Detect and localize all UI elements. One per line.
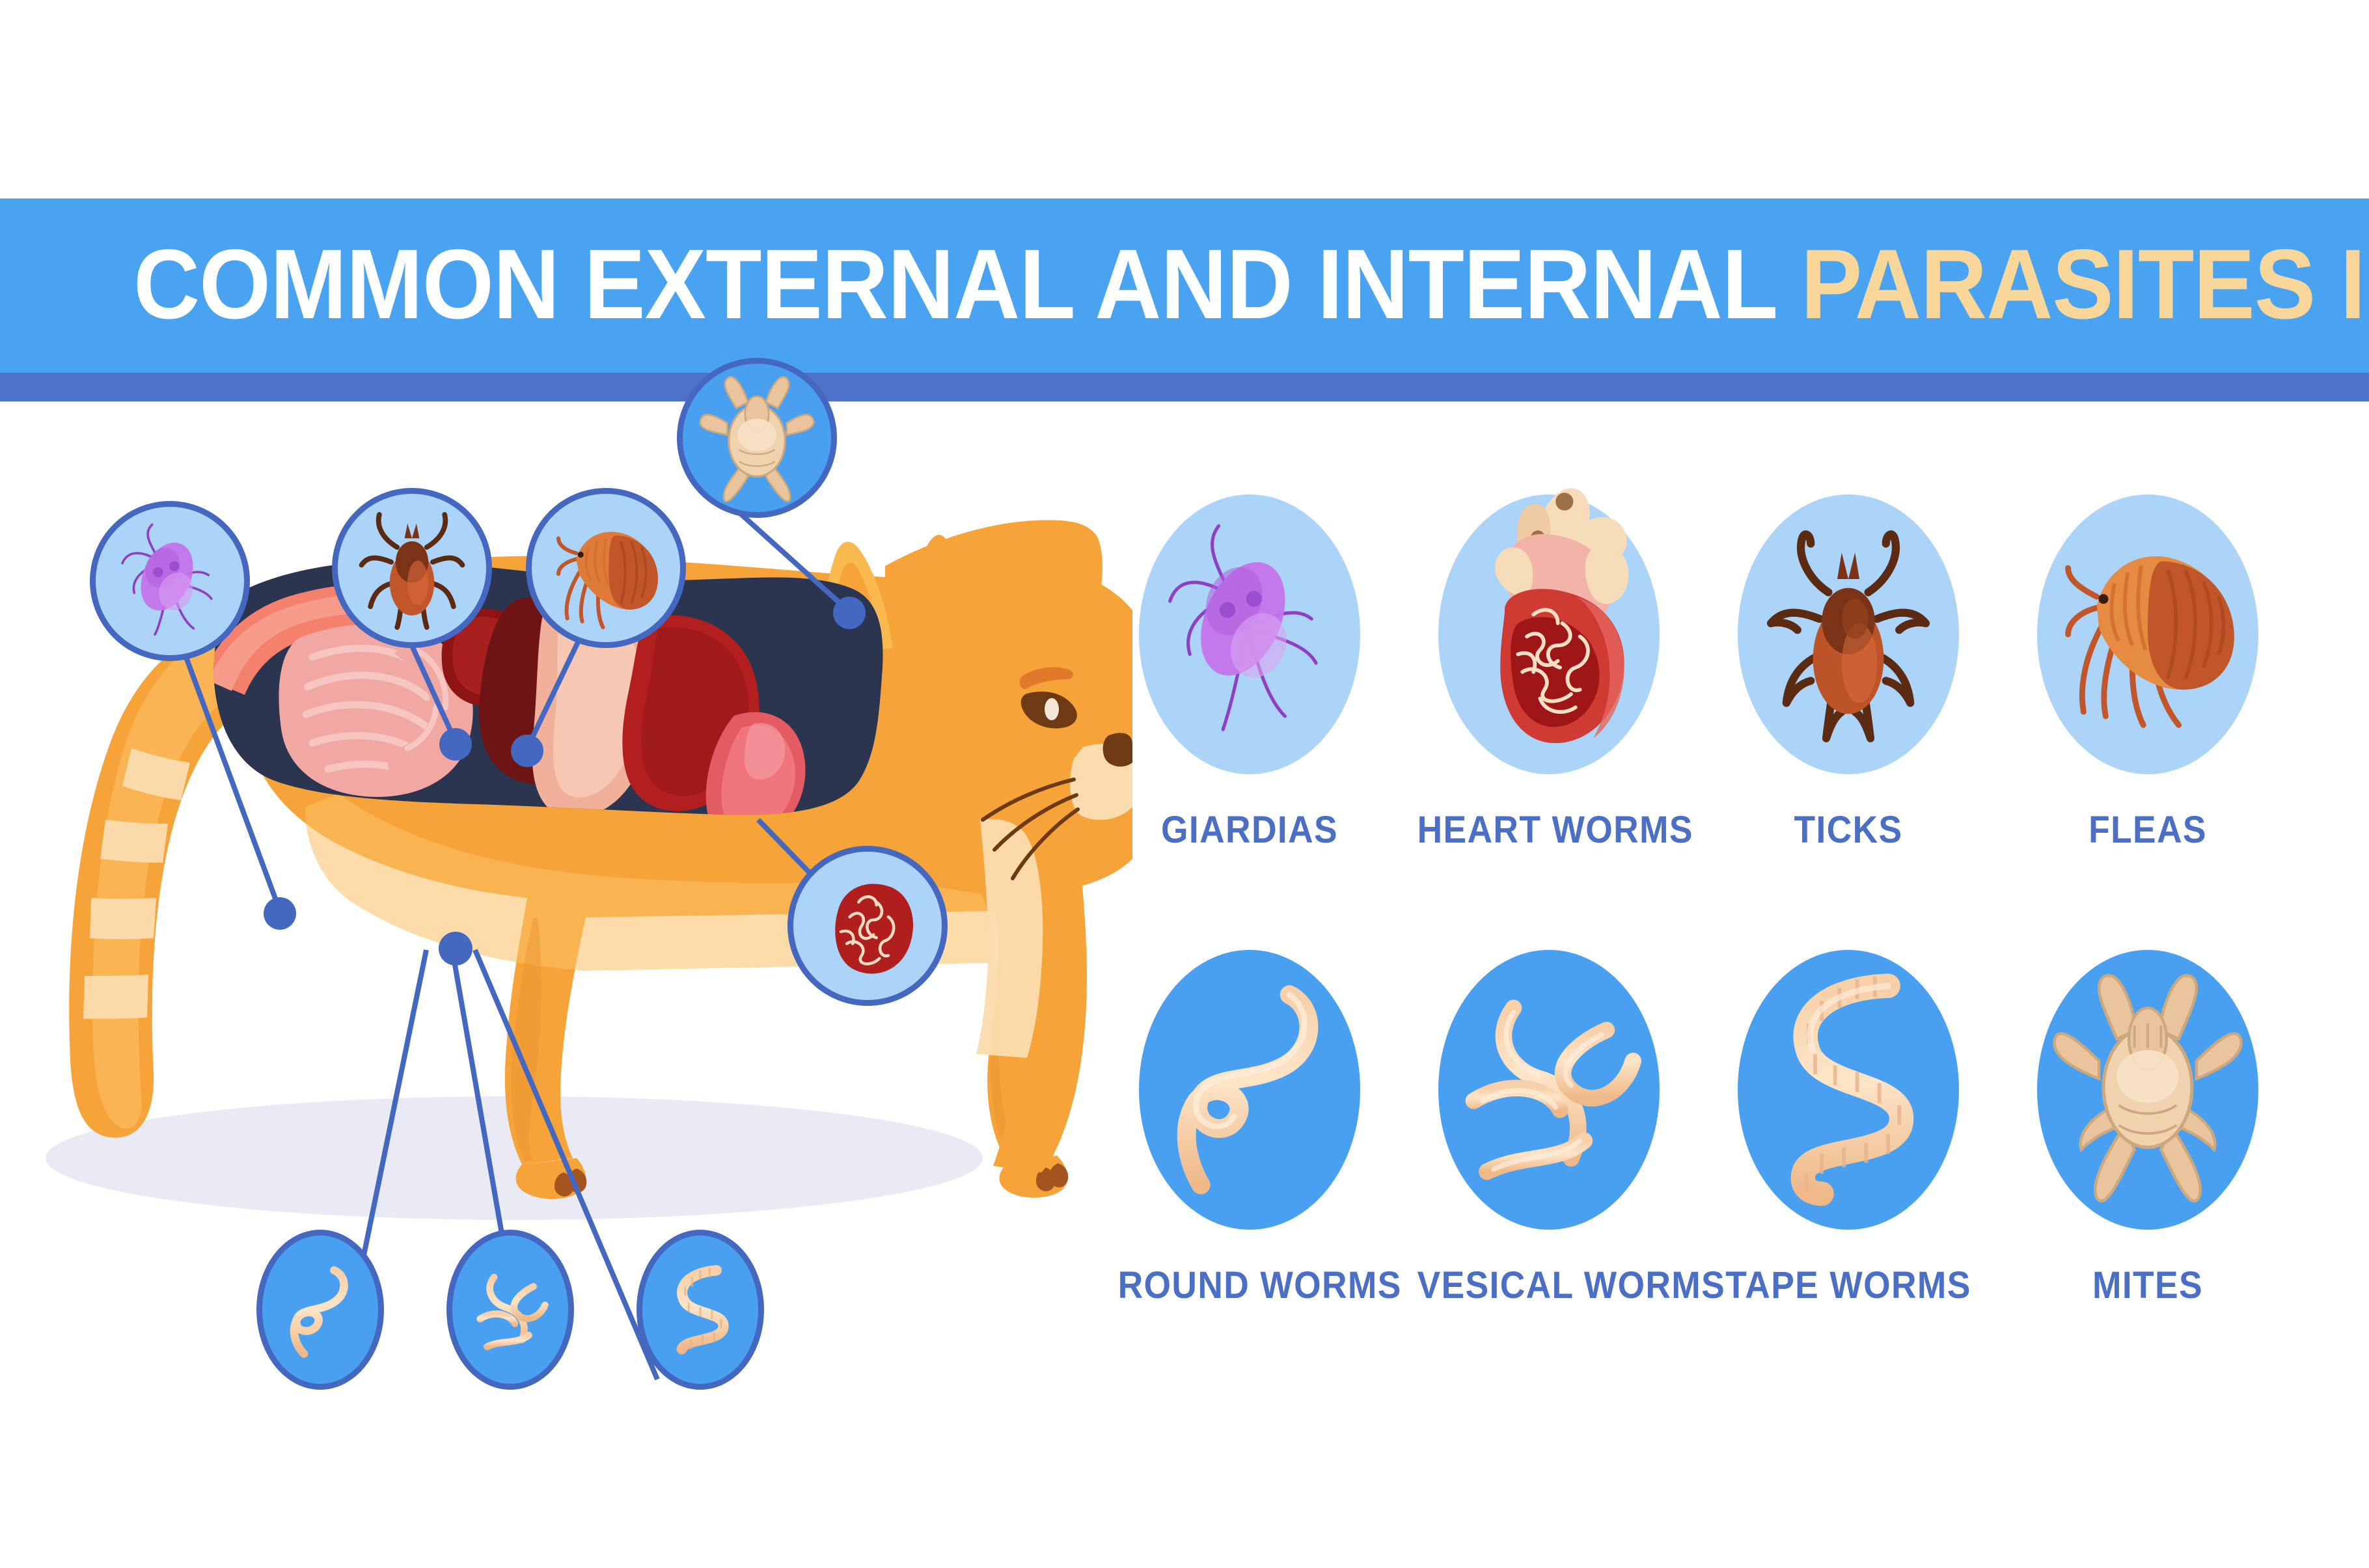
mite-icon [2037,950,2258,1230]
round-worms-disc [1139,950,1360,1230]
round-worm-icon [262,1236,378,1384]
tick-icon [338,494,486,642]
page-title-primary: COMMON EXTERNAL AND INTERNAL [133,229,1801,340]
vesical-worm-icon [1438,950,1660,1230]
grid-label-mites: MITES [2016,1264,2280,1307]
giardia-icon [96,507,244,655]
tape-worms-disc [1738,950,1959,1230]
callout-giardias[interactable] [90,501,250,661]
callout-tick[interactable] [332,488,492,648]
tick-icon [1738,494,1959,774]
grid-label-heart-worms: HEART WORMS [1417,808,1681,852]
heart-worms-icon [1438,494,1660,774]
grid-item-round-worms[interactable]: ROUND WORMS [1106,950,1393,1307]
grid-item-tape-worms[interactable]: TAPE WORMS [1705,950,1992,1307]
grid-item-vesical-worms[interactable]: VESICAL WORMS [1406,950,1692,1307]
callout-vesical-worms[interactable] [446,1230,574,1390]
mite-icon [683,364,831,512]
callout-tape-worms[interactable] [637,1230,764,1390]
flea-icon [532,494,680,642]
giardias-disc [1139,494,1360,774]
cat-anatomy-diagram [0,403,1132,1379]
tape-worm-icon [642,1236,758,1384]
parasite-grid: GIARDIAS [1106,494,2343,1353]
grid-label-tape-worms: TAPE WORMS [1717,1264,1980,1307]
page-title: COMMON EXTERNAL AND INTERNAL PARASITES I… [133,236,2070,333]
page-title-accent: PARASITES IN CATS [1801,229,2369,340]
grid-label-ticks: TICKS [1717,808,1980,852]
callout-heart-worms[interactable] [787,846,948,1006]
grid-item-mites[interactable]: MITES [2005,950,2291,1307]
tape-worm-icon [1738,950,1959,1230]
grid-label-fleas: FLEAS [2016,808,2280,852]
callout-mite[interactable] [677,358,837,518]
heart-worms-icon [793,852,942,1000]
grid-label-giardias: GIARDIAS [1118,808,1382,852]
vesical-worms-disc [1438,950,1660,1230]
grid-item-giardias[interactable]: GIARDIAS [1106,494,1393,852]
flea-icon [2037,494,2258,774]
title-banner-underline [0,373,2369,401]
fleas-disc [2037,494,2258,774]
giardia-icon [1139,494,1360,774]
grid-item-ticks[interactable]: TICKS [1705,494,1992,852]
round-worm-icon [1139,950,1360,1230]
vesical-worm-icon [452,1236,568,1384]
grid-item-heart-worms[interactable]: HEART WORMS [1406,494,1692,852]
grid-item-fleas[interactable]: FLEAS [2005,494,2291,852]
infographic-canvas: COMMON EXTERNAL AND INTERNAL PARASITES I… [0,0,2369,1568]
grid-label-round-worms: ROUND WORMS [1118,1264,1382,1307]
mites-disc [2037,950,2258,1230]
callout-round-worms[interactable] [256,1230,384,1390]
grid-label-vesical-worms: VESICAL WORMS [1417,1264,1681,1307]
heart-worms-disc [1438,494,1660,774]
callout-flea[interactable] [526,488,686,648]
ticks-disc [1738,494,1959,774]
